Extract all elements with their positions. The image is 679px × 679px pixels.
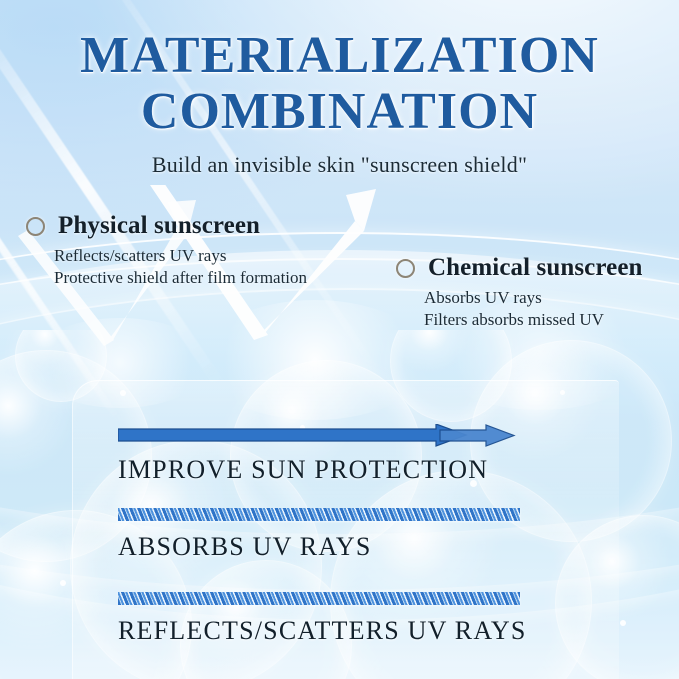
feature-line: Protective shield after film formation (54, 267, 307, 289)
striped-bar-icon (118, 592, 520, 605)
circle-outline-icon (26, 217, 45, 236)
benefit-caption: ABSORBS UV RAYS (118, 532, 520, 562)
feature-physical-sunscreen: Physical sunscreen Reflects/scatters UV … (26, 212, 307, 289)
feature-line: Reflects/scatters UV rays (54, 245, 307, 267)
feature-chemical-sunscreen: Chemical sunscreen Absorbs UV rays Filte… (396, 254, 643, 331)
sparkle (60, 580, 66, 586)
sparkle (620, 620, 626, 626)
benefit-caption: REFLECTS/SCATTERS UV RAYS (118, 616, 527, 646)
sunscreen-infographic-poster: MATERIALIZATION COMBINATION Build an inv… (0, 0, 679, 679)
striped-bar-icon (118, 508, 520, 521)
benefit-row-reflects-scatters-uv-rays: REFLECTS/SCATTERS UV RAYS (118, 592, 527, 646)
benefit-row-absorbs-uv-rays: ABSORBS UV RAYS (118, 508, 520, 562)
feature-heading: Chemical sunscreen (428, 254, 643, 282)
feature-line: Filters absorbs missed UV (424, 309, 643, 331)
feature-heading-row: Chemical sunscreen (396, 254, 643, 282)
feature-line: Absorbs UV rays (424, 287, 643, 309)
page-title: MATERIALIZATION COMBINATION (0, 30, 679, 138)
benefit-row-improve-sun-protection: IMPROVE SUN PROTECTION (118, 424, 518, 485)
benefit-caption: IMPROVE SUN PROTECTION (118, 455, 518, 485)
feature-description: Reflects/scatters UV rays Protective shi… (54, 245, 307, 289)
feature-heading-row: Physical sunscreen (26, 212, 307, 240)
feature-heading: Physical sunscreen (58, 212, 260, 240)
circle-outline-icon (396, 259, 415, 278)
title-line-2: COMBINATION (0, 86, 679, 138)
page-subtitle: Build an invisible skin "sunscreen shiel… (0, 152, 679, 178)
title-line-1: MATERIALIZATION (80, 27, 599, 84)
feature-description: Absorbs UV rays Filters absorbs missed U… (424, 287, 643, 331)
double-arrow-right-icon (118, 424, 518, 448)
